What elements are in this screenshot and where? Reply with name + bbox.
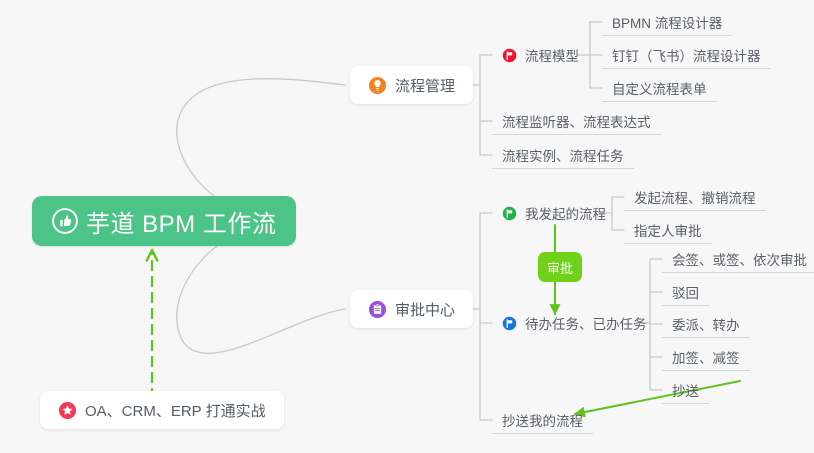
- node-label: 钉钉（飞书）流程设计器: [612, 45, 761, 65]
- node-process-instance-task[interactable]: 流程实例、流程任务: [492, 141, 634, 169]
- node-label: 抄送我的流程: [502, 410, 583, 430]
- root-node[interactable]: 芋道 BPM 工作流: [32, 196, 296, 246]
- node-label: BPMN 流程设计器: [612, 12, 722, 32]
- branch-approval-center[interactable]: 审批中心: [350, 290, 473, 328]
- node-carbon-copy[interactable]: 抄送: [662, 376, 709, 404]
- node-todo-done-tasks[interactable]: 待办任务、已办任务: [492, 309, 657, 337]
- node-label: 流程模型: [525, 45, 579, 65]
- node-process-listener-expression[interactable]: 流程监听器、流程表达式: [492, 107, 661, 135]
- node-dingtalk-feishu-designer[interactable]: 钉钉（飞书）流程设计器: [602, 41, 771, 69]
- branch-label: 流程管理: [395, 75, 455, 96]
- node-countersign-orsign-sequential[interactable]: 会签、或签、依次审批: [662, 245, 814, 273]
- node-assignee-approval[interactable]: 指定人审批: [624, 216, 712, 244]
- node-my-initiated-process[interactable]: 我发起的流程: [492, 199, 616, 227]
- node-label: 驳回: [672, 282, 699, 302]
- node-label: 流程监听器、流程表达式: [502, 111, 651, 131]
- edge-cc-to-ccmine: [575, 381, 740, 414]
- branch-process-management[interactable]: 流程管理: [350, 66, 473, 104]
- node-custom-process-form[interactable]: 自定义流程表单: [602, 74, 717, 102]
- node-label: 自定义流程表单: [612, 78, 707, 98]
- node-cc-to-me-process[interactable]: 抄送我的流程: [492, 406, 593, 434]
- node-label: 委派、转办: [672, 314, 740, 334]
- branch-label: 审批中心: [395, 299, 455, 320]
- node-add-remove-sign[interactable]: 加签、减签: [662, 343, 750, 371]
- approval-badge-label: 审批: [547, 258, 573, 277]
- lightbulb-icon: [368, 76, 387, 95]
- node-label: 我发起的流程: [525, 203, 606, 223]
- thumbs-up-icon: [52, 208, 78, 234]
- node-label: 抄送: [672, 380, 699, 400]
- mindmap-canvas: 芋道 BPM 工作流 OA、CRM、ERP 打通实战 流程管理: [0, 0, 814, 453]
- node-label: 待办任务、已办任务: [525, 313, 647, 333]
- node-reject[interactable]: 驳回: [662, 278, 709, 306]
- flag-icon: [502, 48, 517, 63]
- approval-badge: 审批: [538, 252, 582, 282]
- root-label: 芋道 BPM 工作流: [86, 204, 276, 239]
- node-label: 指定人审批: [634, 220, 702, 240]
- node-label: 发起流程、撤销流程: [634, 187, 756, 207]
- flag-icon: [502, 206, 517, 221]
- node-bpmn-designer[interactable]: BPMN 流程设计器: [602, 8, 732, 36]
- node-label: 加签、减签: [672, 347, 740, 367]
- star-icon: [58, 401, 77, 420]
- node-label: 流程实例、流程任务: [502, 145, 624, 165]
- clipboard-icon: [368, 300, 387, 319]
- floating-note[interactable]: OA、CRM、ERP 打通实战: [40, 391, 284, 429]
- floating-note-label: OA、CRM、ERP 打通实战: [85, 400, 266, 421]
- flag-icon: [502, 316, 517, 331]
- node-start-cancel-process[interactable]: 发起流程、撤销流程: [624, 183, 766, 211]
- node-process-model[interactable]: 流程模型: [492, 41, 589, 69]
- node-label: 会签、或签、依次审批: [672, 249, 807, 269]
- node-delegate-transfer[interactable]: 委派、转办: [662, 310, 750, 338]
